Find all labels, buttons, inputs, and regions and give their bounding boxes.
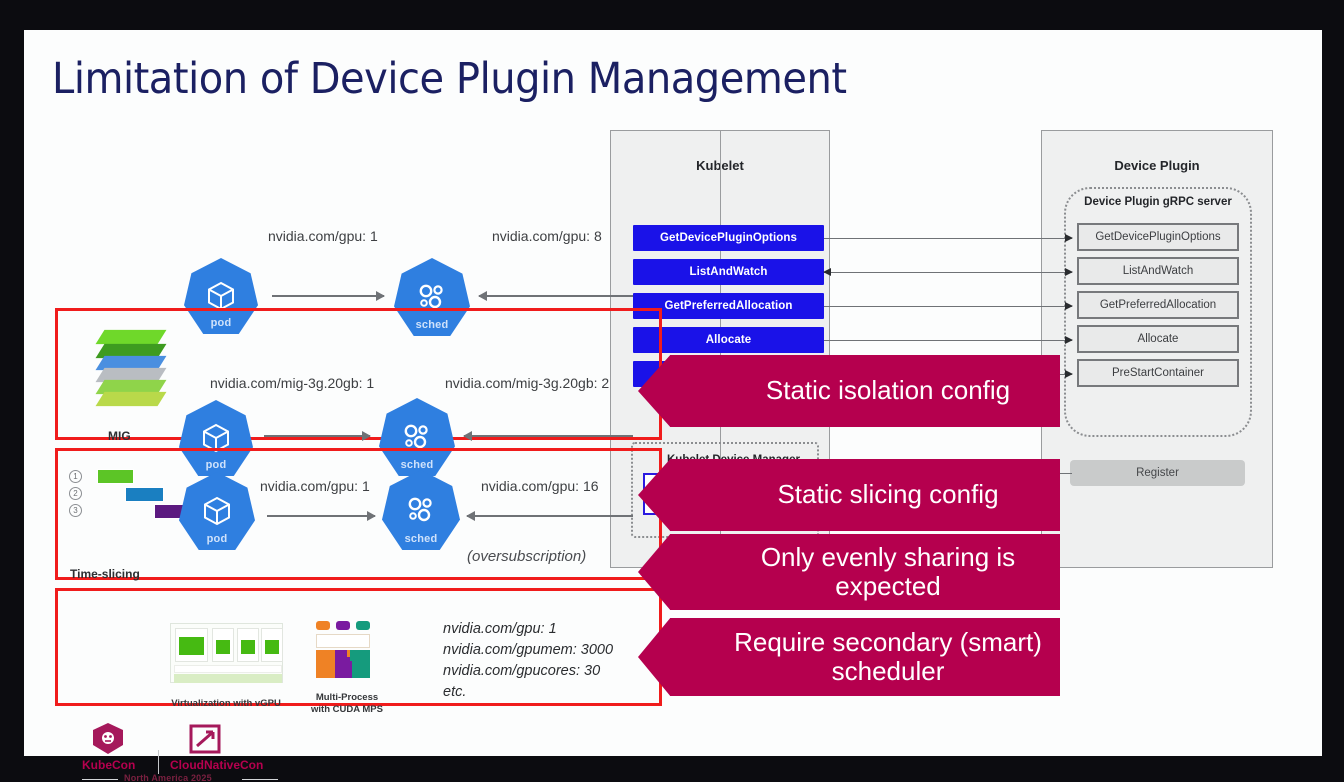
vgpu-architecture-image bbox=[170, 623, 283, 683]
mig-capacity-arrow bbox=[464, 435, 633, 437]
frame-top-bar bbox=[0, 0, 1344, 30]
timeslicing-request-arrow bbox=[267, 515, 375, 517]
device-plugin-endpoint-listandwatch[interactable]: ListAndWatch bbox=[1077, 257, 1239, 285]
kubecon-helm-icon bbox=[88, 722, 128, 756]
timeslice-number-2: 2 bbox=[69, 487, 82, 500]
grpc-server-title: Device Plugin gRPC server bbox=[1064, 196, 1252, 208]
page-title: Limitation of Device Plugin Management bbox=[52, 54, 847, 104]
timeslice-bar-2 bbox=[125, 487, 164, 502]
device-plugin-endpoint-allocate[interactable]: Allocate bbox=[1077, 325, 1239, 353]
kubecon-rule-left bbox=[82, 779, 118, 780]
device-plugin-panel-title: Device Plugin bbox=[1041, 158, 1273, 173]
mig-caption: MIG bbox=[108, 429, 131, 443]
timeslicing-capacity-label: nvidia.com/gpu: 16 bbox=[481, 478, 599, 494]
callout-static-slicing-config: Static slicing config bbox=[670, 459, 1060, 531]
kubecon-edition: North America 2025 bbox=[124, 773, 212, 782]
callout-static-isolation-config: Static isolation config bbox=[670, 355, 1060, 427]
kubecon-divider bbox=[158, 750, 159, 774]
kubelet-call-listandwatch[interactable]: ListAndWatch bbox=[633, 259, 824, 285]
sharing-resource-gpu: nvidia.com/gpu: 1 bbox=[443, 619, 557, 640]
frame-right-bar bbox=[1322, 0, 1344, 782]
timeslicing-caption: Time-slicing bbox=[70, 567, 140, 581]
baseline-request-arrow bbox=[272, 295, 384, 297]
device-plugin-endpoint-getpreferredallocation[interactable]: GetPreferredAllocation bbox=[1077, 291, 1239, 319]
connector-allocate bbox=[824, 340, 1072, 341]
timeslicing-capacity-arrow bbox=[467, 515, 633, 517]
device-plugin-endpoint-prestartcontainer[interactable]: PreStartContainer bbox=[1077, 359, 1239, 387]
baseline-capacity-label: nvidia.com/gpu: 8 bbox=[492, 228, 602, 244]
timeslicing-request-label: nvidia.com/gpu: 1 bbox=[260, 478, 370, 494]
callout-only-evenly-sharing: Only evenly sharing is expected bbox=[670, 534, 1060, 610]
slide-canvas: Limitation of Device Plugin Management K… bbox=[24, 30, 1322, 756]
timeslice-number-1: 1 bbox=[69, 470, 82, 483]
mps-caption-line1: Multi-Process bbox=[304, 692, 390, 704]
mig-capacity-label: nvidia.com/mig-3g.20gb: 2 bbox=[445, 375, 609, 391]
cloudnativecon-label: CloudNativeCon bbox=[170, 758, 263, 772]
baseline-capacity-arrow bbox=[479, 295, 633, 297]
callout-require-secondary-scheduler: Require secondary (smart) scheduler bbox=[670, 618, 1060, 696]
device-plugin-register-button[interactable]: Register bbox=[1070, 460, 1245, 486]
sharing-resource-gpucores: nvidia.com/gpucores: 30 bbox=[443, 661, 600, 682]
frame-left-bar bbox=[0, 0, 24, 782]
kubecon-footer: KubeCon CloudNativeCon North America 202… bbox=[76, 722, 306, 778]
sharing-resource-gpumem: nvidia.com/gpumem: 3000 bbox=[443, 640, 613, 661]
vgpu-caption: Virtualization with vGPU bbox=[160, 698, 292, 710]
baseline-request-label: nvidia.com/gpu: 1 bbox=[268, 228, 378, 244]
sched-gears-icon bbox=[404, 494, 438, 526]
mps-caption-line2: with CUDA MPS bbox=[304, 704, 390, 716]
connector-getpreferredallocation bbox=[824, 306, 1072, 307]
timeslice-bar-1 bbox=[97, 469, 134, 484]
oversubscription-note: (oversubscription) bbox=[467, 548, 586, 565]
mig-layers-icon bbox=[94, 322, 168, 410]
timeslice-number-3: 3 bbox=[69, 504, 82, 517]
kubecon-rule-right bbox=[242, 779, 278, 780]
connector-getdevicepluginoptions bbox=[824, 238, 1072, 239]
connector-listandwatch bbox=[824, 272, 1072, 273]
mig-request-label: nvidia.com/mig-3g.20gb: 1 bbox=[210, 375, 374, 391]
sharing-resource-etc: etc. bbox=[443, 682, 466, 703]
kubelet-call-getdevicepluginoptions[interactable]: GetDevicePluginOptions bbox=[633, 225, 824, 251]
slide-root: Limitation of Device Plugin Management K… bbox=[0, 0, 1344, 782]
mps-icon bbox=[314, 621, 376, 683]
mig-request-arrow bbox=[264, 435, 370, 437]
pod-cube-icon bbox=[207, 281, 235, 311]
cloudnativecon-icon bbox=[188, 724, 222, 754]
kubecon-label: KubeCon bbox=[82, 758, 135, 772]
pod-cube-icon bbox=[203, 496, 231, 526]
device-plugin-endpoint-getdevicepluginoptions[interactable]: GetDevicePluginOptions bbox=[1077, 223, 1239, 251]
